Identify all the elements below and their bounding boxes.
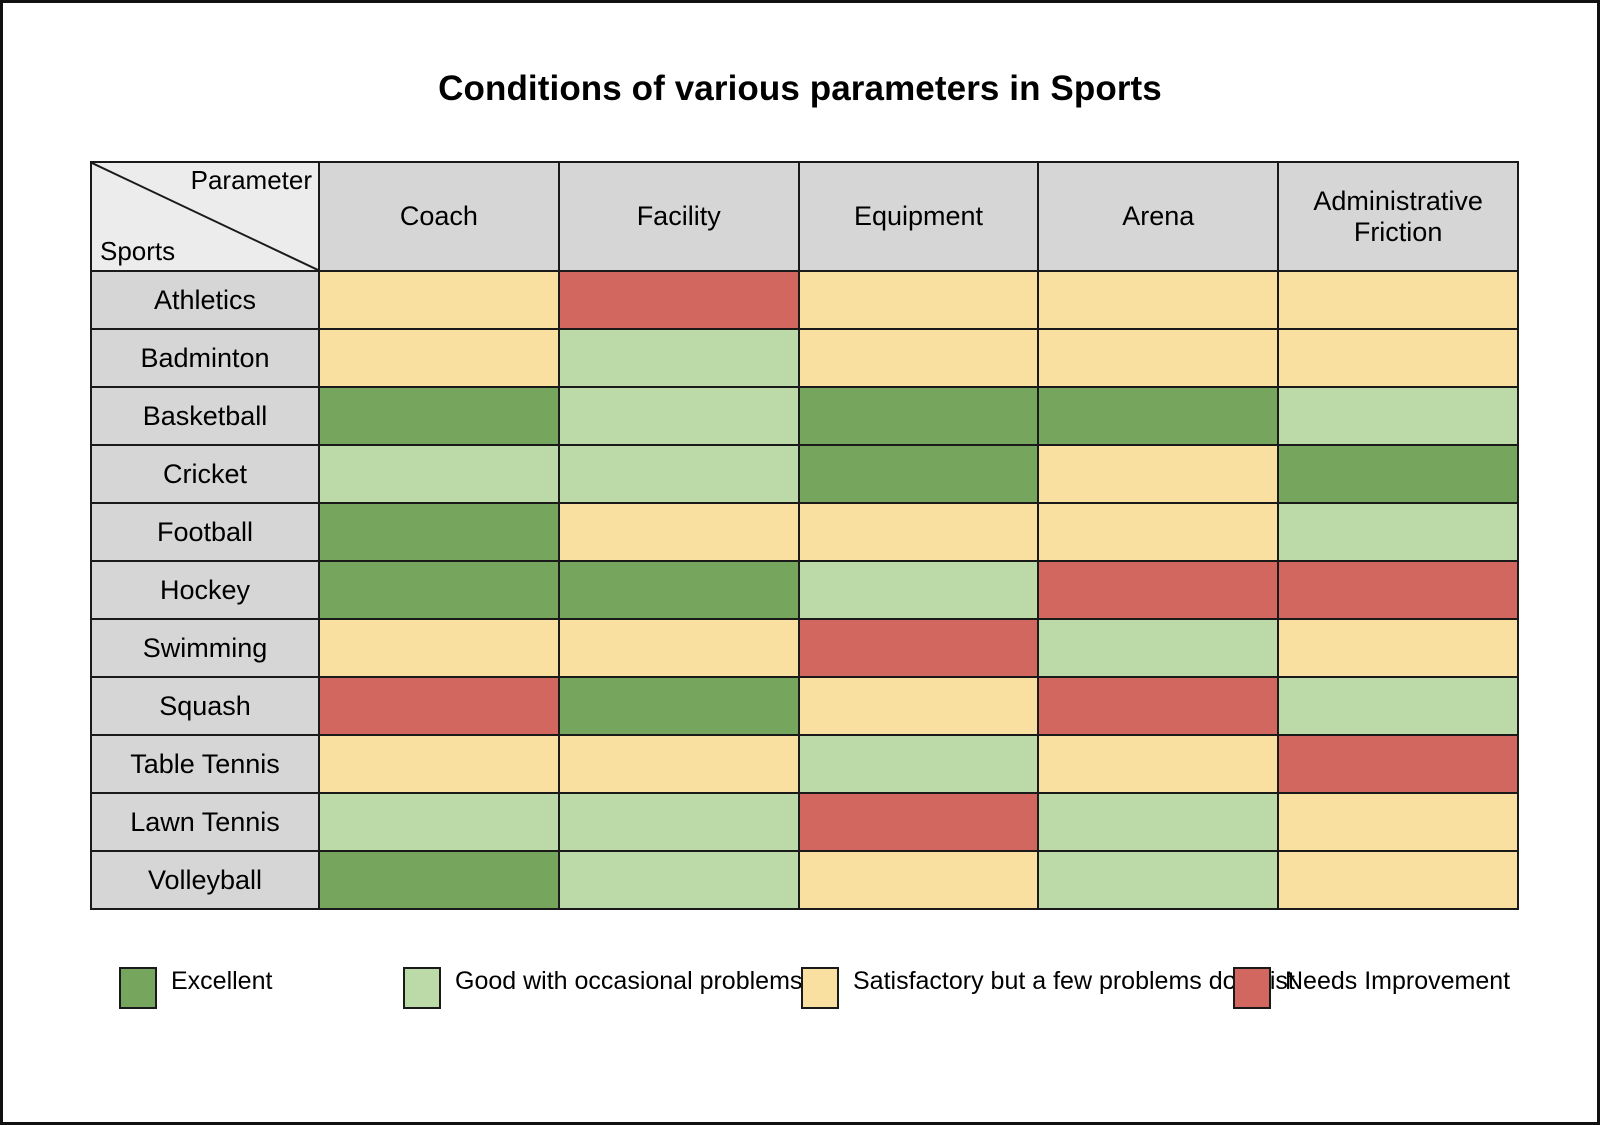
corner-parameter-label: Parameter xyxy=(191,166,312,195)
heatmap-cell xyxy=(559,271,799,329)
row-header-cricket: Cricket xyxy=(91,445,319,503)
heatmap-cell xyxy=(319,851,559,909)
heatmap-cell xyxy=(799,271,1039,329)
heatmap-cell xyxy=(1038,271,1278,329)
heatmap-cell xyxy=(559,329,799,387)
heatmap-cell xyxy=(1278,445,1518,503)
page-title: Conditions of various parameters in Spor… xyxy=(3,69,1597,109)
heatmap-cell xyxy=(559,677,799,735)
heatmap-cell xyxy=(319,387,559,445)
row-header-squash: Squash xyxy=(91,677,319,735)
legend-label-excellent: Excellent xyxy=(171,965,272,997)
heatmap-cell xyxy=(1038,851,1278,909)
legend-swatch-excellent xyxy=(119,967,157,1009)
corner-header-cell: Parameter Sports xyxy=(91,162,319,271)
table-row: Athletics xyxy=(91,271,1518,329)
row-header-table-tennis: Table Tennis xyxy=(91,735,319,793)
row-header-football: Football xyxy=(91,503,319,561)
row-header-basketball: Basketball xyxy=(91,387,319,445)
legend-label-needs-improvement: Needs Improvement xyxy=(1285,965,1510,997)
table-row: Squash xyxy=(91,677,1518,735)
table-row: Swimming xyxy=(91,619,1518,677)
heatmap-cell xyxy=(559,619,799,677)
heatmap-cell xyxy=(559,851,799,909)
heatmap-cell xyxy=(1278,387,1518,445)
heatmap-cell xyxy=(1038,619,1278,677)
table-row: Cricket xyxy=(91,445,1518,503)
table-row: Hockey xyxy=(91,561,1518,619)
legend: Excellent Good with occasional problems … xyxy=(113,959,1513,1049)
heatmap-cell xyxy=(319,271,559,329)
heatmap-cell xyxy=(799,793,1039,851)
row-header-lawn-tennis: Lawn Tennis xyxy=(91,793,319,851)
heatmap-cell xyxy=(559,445,799,503)
heatmap-cell xyxy=(1278,619,1518,677)
legend-swatch-good xyxy=(403,967,441,1009)
heatmap-cell xyxy=(799,445,1039,503)
column-header-arena: Arena xyxy=(1038,162,1278,271)
heatmap-cell xyxy=(1278,561,1518,619)
heatmap-cell xyxy=(1038,561,1278,619)
legend-label-good: Good with occasional problems xyxy=(455,965,802,997)
heatmap-cell xyxy=(1038,503,1278,561)
table-row: Volleyball xyxy=(91,851,1518,909)
row-header-hockey: Hockey xyxy=(91,561,319,619)
heatmap-cell xyxy=(1278,329,1518,387)
heatmap-cell xyxy=(559,735,799,793)
table-row: Badminton xyxy=(91,329,1518,387)
column-header-equipment: Equipment xyxy=(799,162,1039,271)
heatmap-cell xyxy=(1038,793,1278,851)
table-row: Basketball xyxy=(91,387,1518,445)
heatmap-cell xyxy=(799,329,1039,387)
column-header-facility: Facility xyxy=(559,162,799,271)
heatmap-cell xyxy=(799,677,1039,735)
row-header-badminton: Badminton xyxy=(91,329,319,387)
legend-label-satisfactory: Satisfactory but a few problems do exist xyxy=(853,965,1295,997)
heatmap-cell xyxy=(1278,677,1518,735)
heatmap-cell xyxy=(1278,271,1518,329)
matrix-body: AthleticsBadmintonBasketballCricketFootb… xyxy=(91,271,1518,909)
heatmap-cell xyxy=(1278,735,1518,793)
row-header-athletics: Athletics xyxy=(91,271,319,329)
heatmap-cell xyxy=(1278,793,1518,851)
page-root: Conditions of various parameters in Spor… xyxy=(0,0,1600,1125)
heatmap-cell xyxy=(319,561,559,619)
heatmap-cell xyxy=(1278,503,1518,561)
heatmap-cell xyxy=(319,619,559,677)
legend-item-satisfactory: Satisfactory but a few problems do exist xyxy=(801,965,1295,1009)
heatmap-cell xyxy=(319,503,559,561)
legend-swatch-satisfactory xyxy=(801,967,839,1009)
heatmap-cell xyxy=(799,735,1039,793)
row-header-volleyball: Volleyball xyxy=(91,851,319,909)
heatmap-cell xyxy=(1038,445,1278,503)
heatmap-cell xyxy=(319,445,559,503)
heatmap-cell xyxy=(319,735,559,793)
legend-item-good: Good with occasional problems xyxy=(403,965,802,1009)
heatmap-cell xyxy=(799,561,1039,619)
table-row: Table Tennis xyxy=(91,735,1518,793)
legend-item-needs-improvement: Needs Improvement xyxy=(1233,965,1510,1009)
heatmap-cell xyxy=(559,503,799,561)
heatmap-cell xyxy=(1278,851,1518,909)
heatmap-cell xyxy=(319,793,559,851)
matrix-header: Parameter Sports Coach Facility Equipmen… xyxy=(91,162,1518,271)
heatmap-cell xyxy=(319,677,559,735)
column-header-administrative-friction: Administrative Friction xyxy=(1278,162,1518,271)
heatmap-cell xyxy=(1038,329,1278,387)
legend-swatch-needs-improvement xyxy=(1233,967,1271,1009)
conditions-matrix-table: Parameter Sports Coach Facility Equipmen… xyxy=(90,161,1519,910)
heatmap-cell xyxy=(319,329,559,387)
column-header-coach: Coach xyxy=(319,162,559,271)
heatmap-cell xyxy=(799,851,1039,909)
heatmap-cell xyxy=(559,387,799,445)
heatmap-cell xyxy=(1038,677,1278,735)
corner-sports-label: Sports xyxy=(100,237,175,266)
heatmap-cell xyxy=(1038,387,1278,445)
matrix-header-row: Parameter Sports Coach Facility Equipmen… xyxy=(91,162,1518,271)
row-header-swimming: Swimming xyxy=(91,619,319,677)
heatmap-cell xyxy=(559,793,799,851)
table-row: Lawn Tennis xyxy=(91,793,1518,851)
heatmap-cell xyxy=(1038,735,1278,793)
table-row: Football xyxy=(91,503,1518,561)
heatmap-cell xyxy=(559,561,799,619)
legend-item-excellent: Excellent xyxy=(119,965,272,1009)
heatmap-cell xyxy=(799,503,1039,561)
heatmap-cell xyxy=(799,387,1039,445)
heatmap-cell xyxy=(799,619,1039,677)
